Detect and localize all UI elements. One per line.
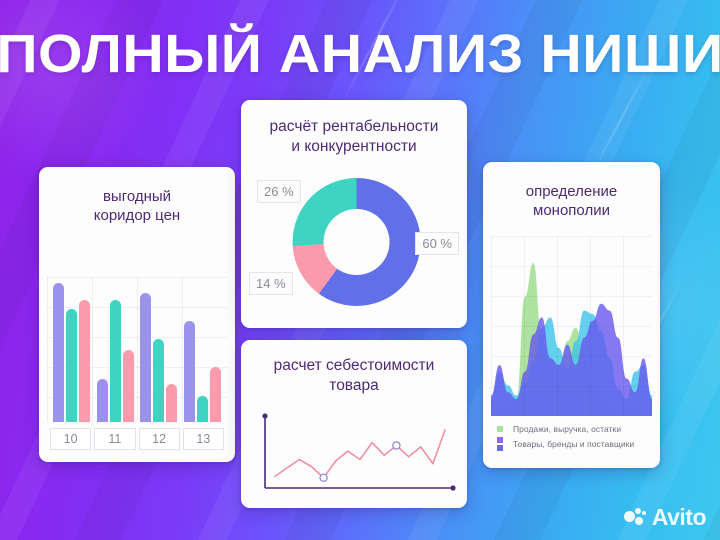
legend-label-sales: Продажи, выручка, остатки (513, 424, 621, 434)
bar (197, 396, 208, 422)
bar (140, 293, 151, 422)
bar-chart-x-labels: 10111213 (47, 428, 227, 450)
card-cost-calculation-title: расчет себестоимоститовара (241, 340, 467, 396)
area-chart-legend: Продажи, выручка, остатки Товары, бренды… (497, 424, 652, 454)
legend-swatch-purple (497, 437, 503, 443)
donut-chart: 26 % 60 % 14 % (241, 178, 467, 320)
legend-item-sales: Продажи, выручка, остатки (497, 424, 652, 434)
bar (79, 300, 90, 422)
bar (210, 367, 221, 422)
area-chart-gridlines (491, 236, 652, 416)
line-chart-svg (251, 410, 459, 500)
legend-label-goods: Товары, бренды и поставщики (513, 439, 634, 449)
bar (66, 309, 77, 422)
line-chart-marker (320, 474, 327, 481)
bar (184, 321, 195, 423)
bar (123, 350, 134, 423)
donut-ring (293, 178, 421, 306)
line-chart (251, 410, 459, 500)
donut-label-teal: 26 % (257, 180, 301, 203)
line-chart-series (275, 430, 445, 478)
bar (153, 339, 164, 422)
bar-group (94, 277, 138, 422)
avito-wordmark: Avito (652, 504, 706, 531)
legend-swatch-group-2 (497, 437, 503, 451)
axis-endpoint-right (450, 485, 455, 490)
bar-group (137, 277, 181, 422)
bar (53, 283, 64, 422)
donut-label-blue: 60 % (415, 232, 459, 255)
card-monopoly-title: определениемонополии (483, 162, 660, 220)
avito-watermark: Avito (624, 504, 706, 531)
bar-group (181, 277, 225, 422)
legend-item-goods: Товары, бренды и поставщики (497, 437, 652, 451)
bar-label: 12 (139, 428, 180, 450)
card-price-corridor-title: выгодныйкоридор цен (39, 167, 235, 225)
bar-label: 11 (94, 428, 135, 450)
bar (110, 300, 121, 422)
page-title: ПОЛНЫЙ АНАЛИЗ НИШИ (0, 23, 720, 85)
card-profitability-title: расчёт рентабельностии конкурентности (241, 100, 467, 157)
legend-swatch-group-1 (497, 426, 503, 432)
legend-swatch-green (497, 426, 503, 432)
bar (97, 379, 108, 423)
line-chart-marker (393, 442, 400, 449)
donut-label-pink: 14 % (249, 272, 293, 295)
avito-logo-icon (624, 508, 646, 528)
bar (166, 384, 177, 422)
card-cost-calculation: расчет себестоимоститовара (241, 340, 467, 508)
card-price-corridor: выгодныйкоридор цен 10111213 (39, 167, 235, 462)
card-profitability: расчёт рентабельностии конкурентности 26… (241, 100, 467, 328)
axis-endpoint-top (262, 413, 267, 418)
bar-chart-bars (47, 277, 227, 422)
card-monopoly: определениемонополии Продажи, выручка, о… (483, 162, 660, 468)
bar-group (50, 277, 94, 422)
bar-label: 10 (50, 428, 91, 450)
bar-chart (47, 277, 227, 422)
poster-canvas: ПОЛНЫЙ АНАЛИЗ НИШИ выгодныйкоридор цен 1… (0, 0, 720, 540)
legend-swatch-blue (497, 445, 503, 451)
area-chart (491, 236, 652, 416)
bar-label: 13 (183, 428, 224, 450)
donut-hole (324, 209, 390, 275)
